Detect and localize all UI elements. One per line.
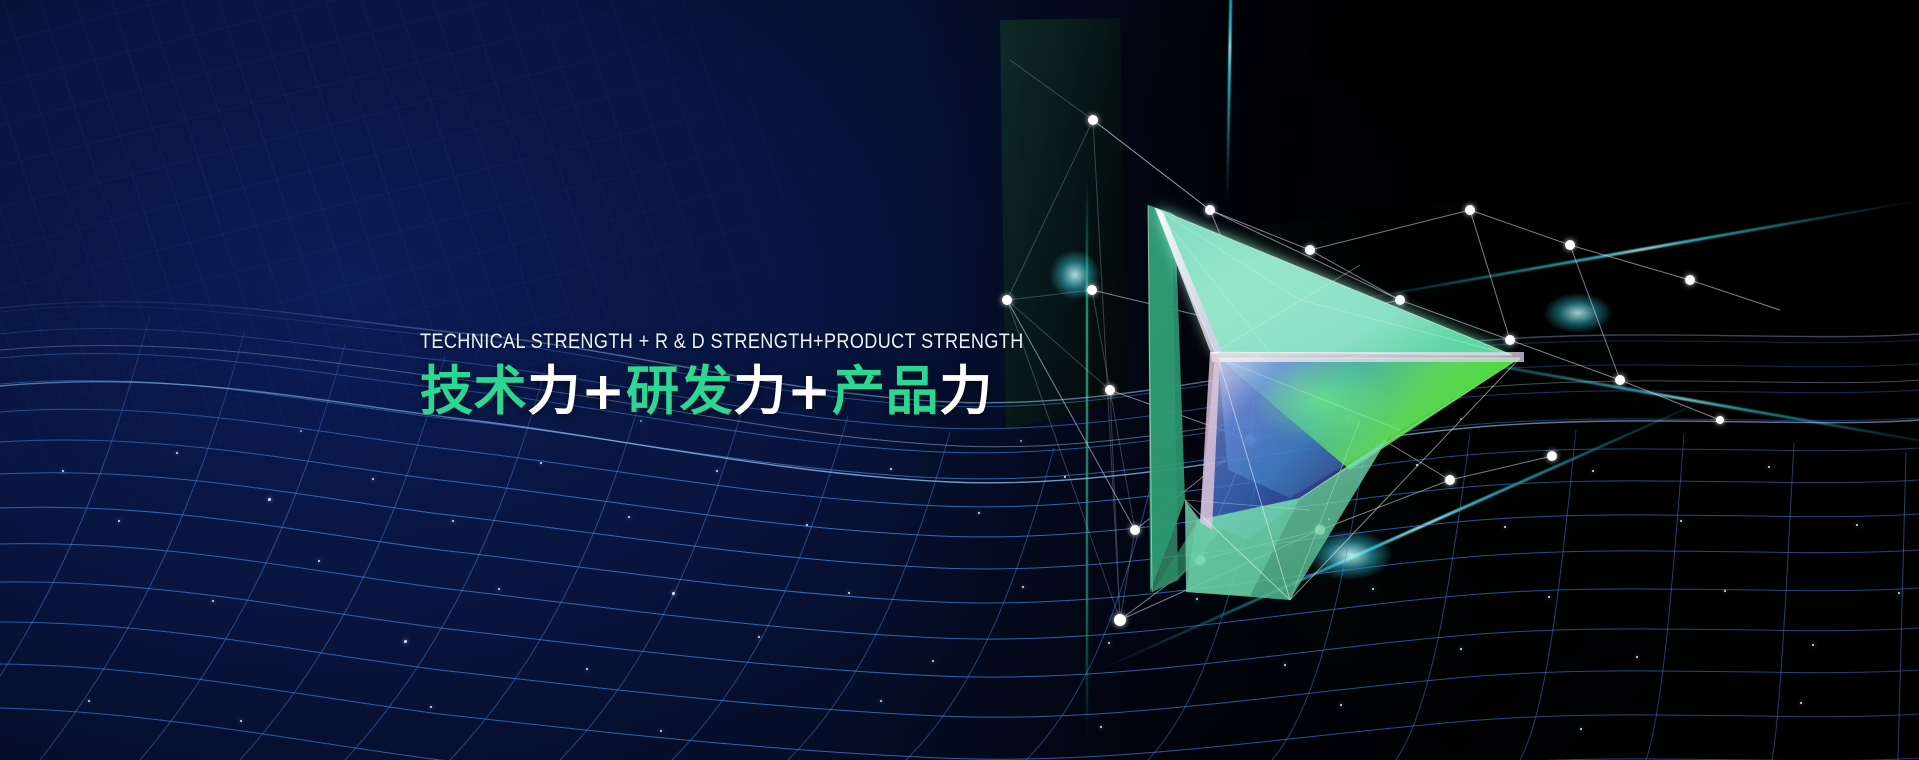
headline-plus-2: + [787,361,832,422]
page-title: 技术力+研发力+产品力 [420,362,1060,421]
eyebrow-text: TECHNICAL STRENGTH + R & D STRENGTH+PROD… [420,330,970,354]
hero-banner: TECHNICAL STRENGTH + R & D STRENGTH+PROD… [0,0,1919,760]
headline-part-white-2: 力 [733,361,787,422]
headline-part-green-1: 技术 [420,361,527,422]
headline-part-green-2: 研发 [626,361,733,422]
headline-part-white-3: 力 [939,361,993,422]
headline-plus-1: + [581,361,626,422]
hero-text-block: TECHNICAL STRENGTH + R & D STRENGTH+PROD… [420,330,1060,421]
headline-part-green-3: 产品 [832,361,939,422]
headline-part-white-1: 力 [527,361,581,422]
